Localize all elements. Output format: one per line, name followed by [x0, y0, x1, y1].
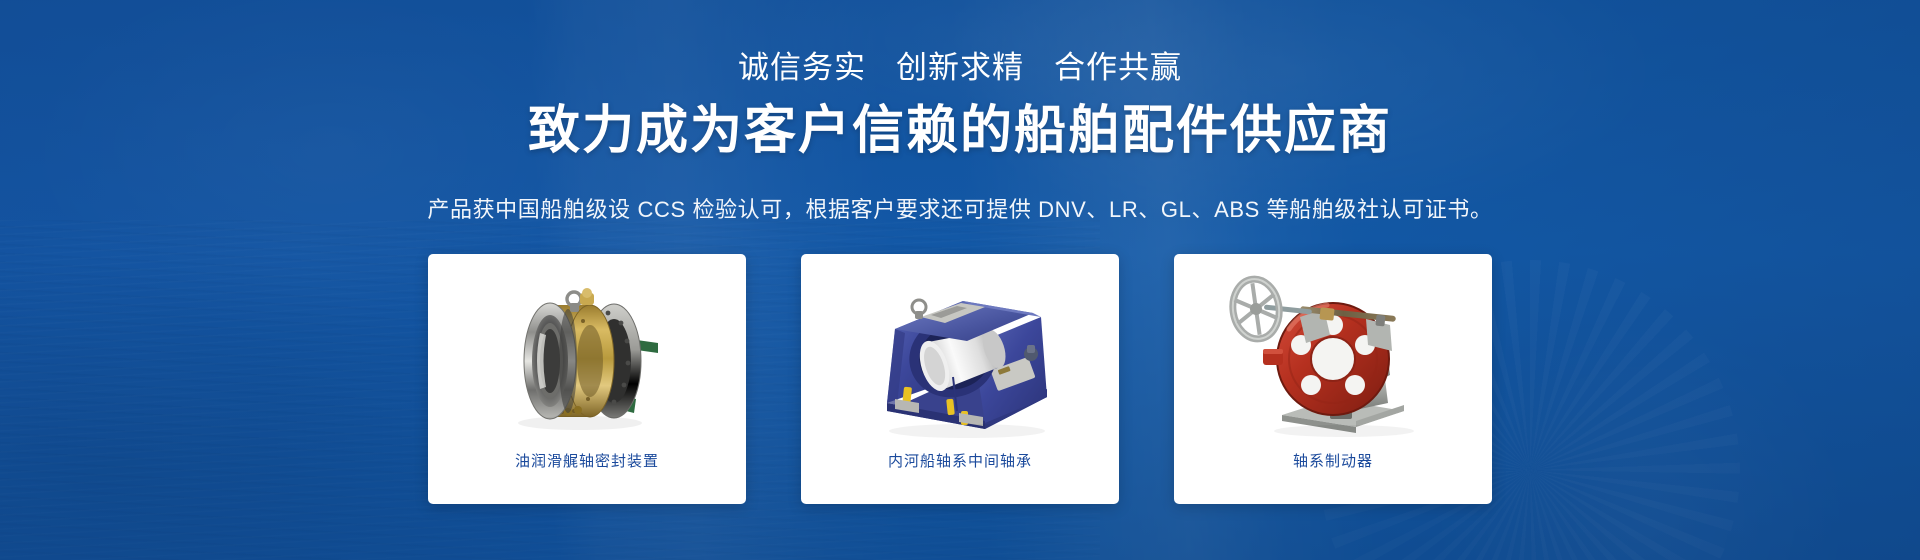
product-card[interactable]: 内河船轴系中间轴承	[801, 254, 1119, 504]
tagline-word-3-label: 合作共赢	[1054, 50, 1182, 85]
tagline-word-3: 合作共赢	[1052, 50, 1184, 86]
banner-content: 诚信务实 创新求精 合作共赢 致力成为客户信赖的船舶配件供应商 产品获中国船舶级…	[0, 0, 1920, 560]
product-card-list: 油润滑艉轴密封装置	[0, 254, 1920, 504]
oil-lubricated-stern-shaft-seal-photo	[452, 268, 722, 448]
product-card-caption: 油润滑艉轴密封装置	[515, 452, 659, 472]
hero-banner: 诚信务实 创新求精 合作共赢 致力成为客户信赖的船舶配件供应商 产品获中国船舶级…	[0, 0, 1920, 560]
inland-vessel-intermediate-bearing-photo	[825, 268, 1095, 448]
tagline-word-1-label: 诚信务实	[738, 50, 866, 85]
shafting-brake-photo	[1198, 268, 1468, 448]
product-card-caption: 内河船轴系中间轴承	[888, 452, 1032, 472]
product-card[interactable]: 轴系制动器	[1174, 254, 1492, 504]
tagline-word-2: 创新求精	[894, 50, 1026, 86]
product-card-caption: 轴系制动器	[1293, 452, 1373, 472]
tagline-word-2-label: 创新求精	[896, 50, 1024, 85]
banner-subline: 产品获中国船舶级设 CCS 检验认可，根据客户要求还可提供 DNV、LR、GL、…	[0, 195, 1920, 225]
tagline-word-1: 诚信务实	[736, 50, 868, 86]
banner-headline: 致力成为客户信赖的船舶配件供应商	[0, 100, 1920, 162]
product-card[interactable]: 油润滑艉轴密封装置	[428, 254, 746, 504]
banner-tagline: 诚信务实 创新求精 合作共赢	[0, 50, 1920, 86]
